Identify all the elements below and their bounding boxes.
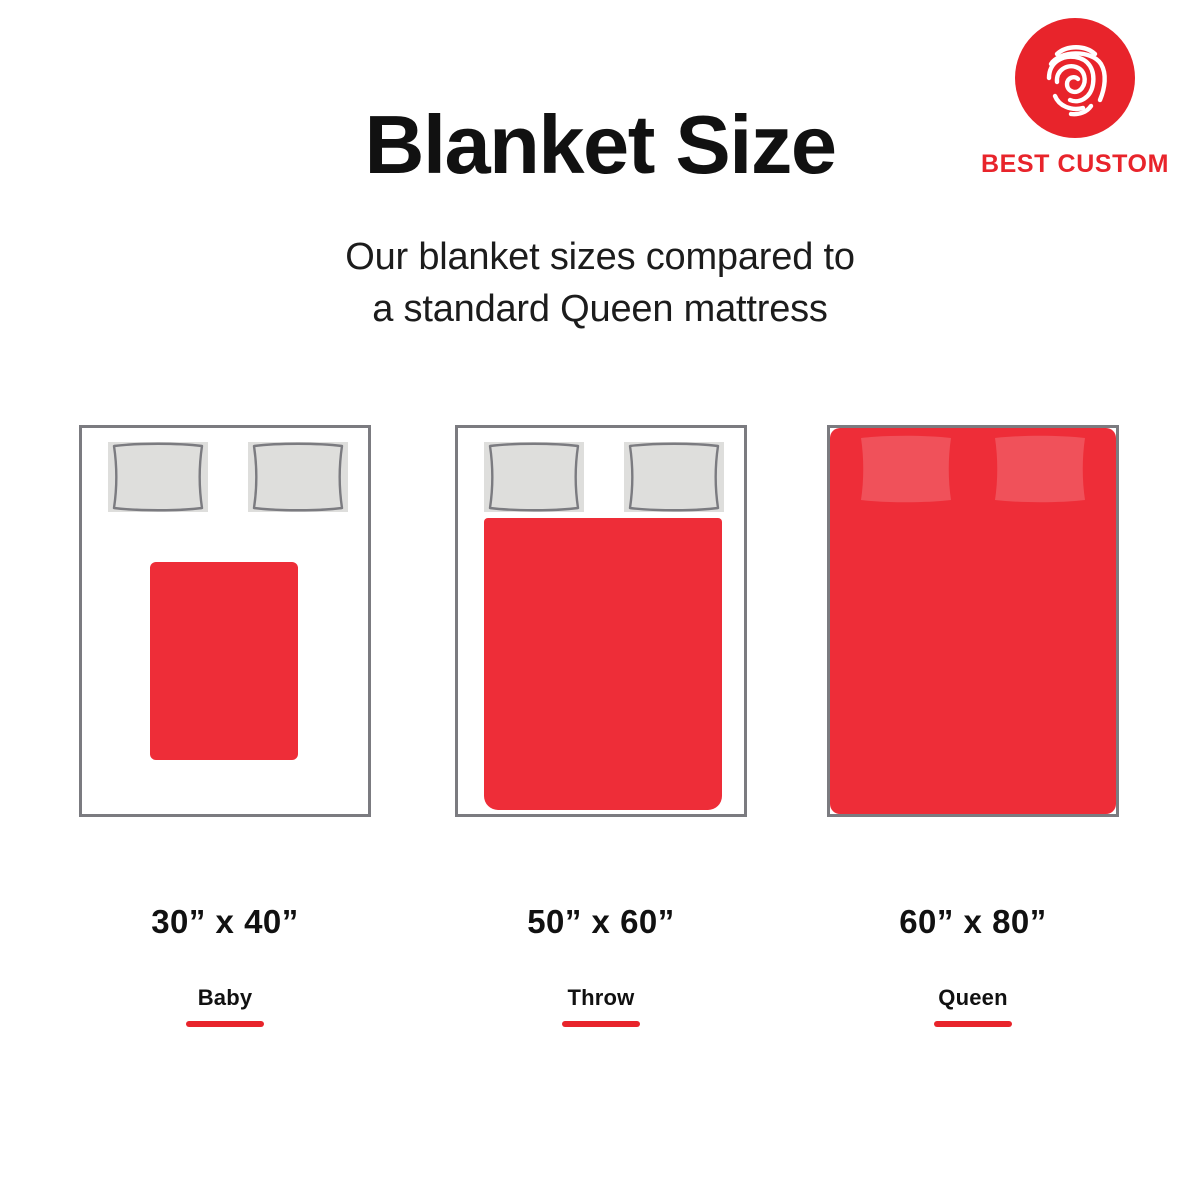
dimensions-label: 30” x 40” xyxy=(79,903,371,941)
page-subtitle: Our blanket sizes compared to a standard… xyxy=(0,231,1200,336)
size-name-label: Baby xyxy=(79,985,371,1011)
pillow-icon xyxy=(108,442,208,512)
dimensions-label: 60” x 80” xyxy=(827,903,1119,941)
subtitle-line-1: Our blanket sizes compared to xyxy=(345,236,855,278)
page-title: Blanket Size xyxy=(0,103,1200,188)
caption-baby: 30” x 40” Baby xyxy=(79,903,371,1027)
bed-diagram-baby xyxy=(79,425,371,817)
accent-underline xyxy=(934,1021,1012,1027)
pillow-icon xyxy=(856,434,956,504)
dimensions-label: 50” x 60” xyxy=(455,903,747,941)
pillow-icon xyxy=(484,442,584,512)
bed-diagram-throw xyxy=(455,425,747,817)
pillow-icon xyxy=(990,434,1090,504)
pillow-icon xyxy=(248,442,348,512)
blanket-shape-queen xyxy=(830,428,1116,814)
blanket-shape-throw xyxy=(484,518,722,810)
size-name-label: Queen xyxy=(827,985,1119,1011)
caption-throw: 50” x 60” Throw xyxy=(455,903,747,1027)
bed-diagram-queen xyxy=(827,425,1119,817)
subtitle-line-2: a standard Queen mattress xyxy=(372,288,827,330)
blanket-shape-baby xyxy=(150,562,298,760)
caption-queen: 60” x 80” Queen xyxy=(827,903,1119,1027)
pillow-icon xyxy=(624,442,724,512)
accent-underline xyxy=(562,1021,640,1027)
accent-underline xyxy=(186,1021,264,1027)
size-name-label: Throw xyxy=(455,985,747,1011)
infographic-canvas: BEST CUSTOM Blanket Size Our blanket siz… xyxy=(0,0,1200,1200)
